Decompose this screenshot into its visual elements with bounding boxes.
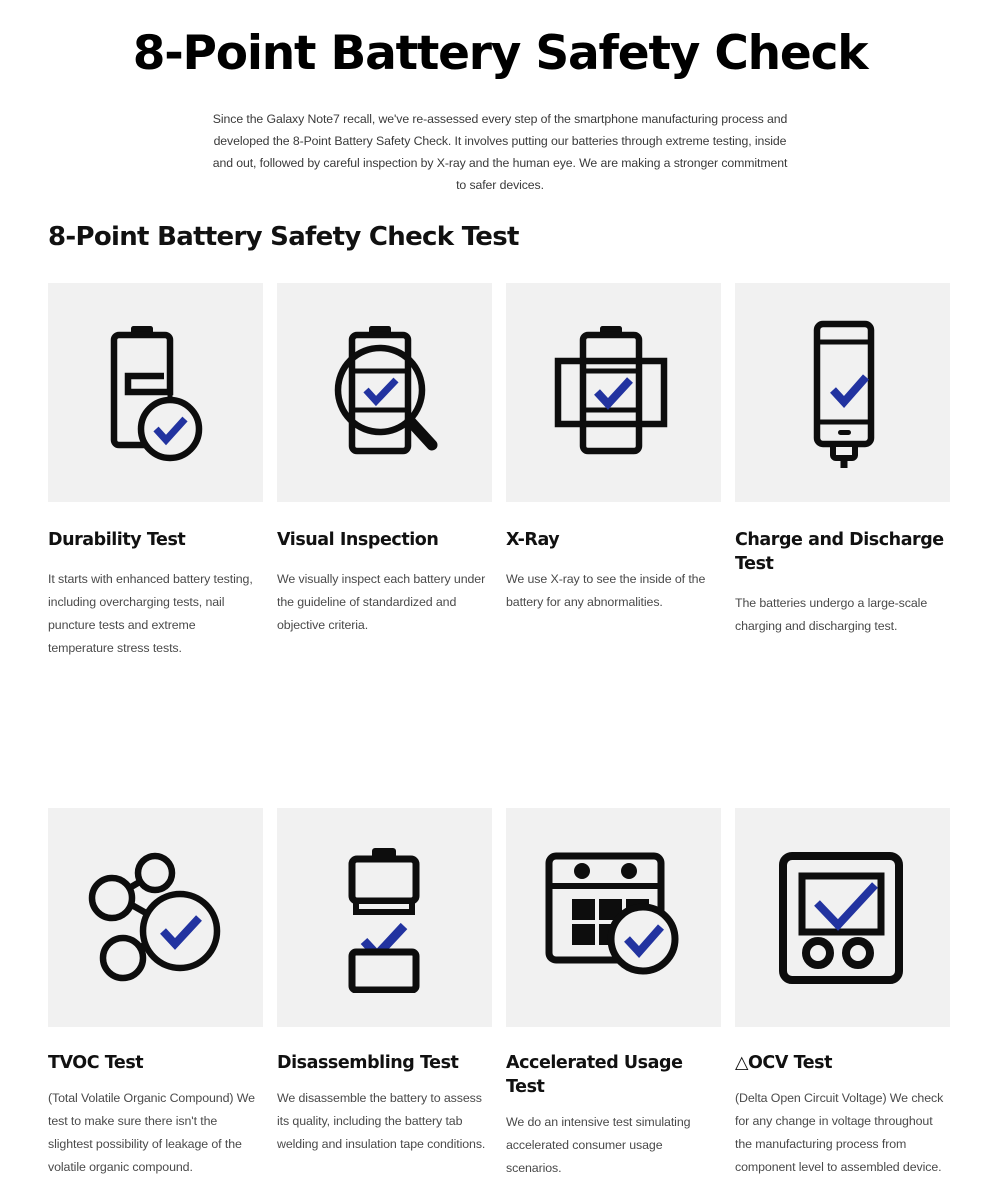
icon-tile [48,283,263,502]
card-title: Visual Inspection [277,528,492,552]
card-durability-test[interactable]: Durability Test It starts with enhanced … [48,283,263,660]
icon-tile [735,283,950,502]
voltmeter-check-icon [773,848,913,988]
card-description: It starts with enhanced battery testing,… [48,568,263,660]
card-description: (Total Volatile Organic Compound) We tes… [48,1087,263,1179]
card-disassembling-test[interactable]: Disassembling Test We disassemble the ba… [277,808,492,1180]
card-accelerated-usage-test[interactable]: Accelerated Usage Test We do an intensiv… [506,808,721,1180]
card-description: (Delta Open Circuit Voltage) We check fo… [735,1087,950,1179]
card-title: TVOC Test [48,1051,263,1075]
card-title: Durability Test [48,528,263,552]
card-description: We disassemble the battery to assess its… [277,1087,492,1156]
safety-check-grid: Durability Test It starts with enhanced … [48,283,952,1180]
card-title: Charge and Discharge Test [735,528,950,576]
card-title: △OCV Test [735,1051,950,1075]
icon-tile [277,283,492,502]
icon-tile [506,283,721,502]
page-subtitle: Since the Galaxy Note7 recall, we've re-… [210,108,790,196]
card-delta-ocv-test[interactable]: △OCV Test (Delta Open Circuit Voltage) W… [735,808,950,1180]
card-title: Disassembling Test [277,1051,492,1075]
card-description: We use X-ray to see the inside of the ba… [506,568,721,614]
card-tvoc-test[interactable]: TVOC Test (Total Volatile Organic Compou… [48,808,263,1180]
card-description: The batteries undergo a large-scale char… [735,592,950,638]
calendar-check-icon [539,848,689,988]
page-root: 8-Point Battery Safety Check Since the G… [0,0,1000,1051]
section-heading: 8-Point Battery Safety Check Test [48,222,519,252]
battery-xray-scan-check-icon [544,318,684,468]
card-description: We do an intensive test simulating accel… [506,1111,721,1180]
molecule-nodes-check-icon [81,848,231,988]
card-x-ray[interactable]: X-Ray We use X-ray to see the inside of … [506,283,721,660]
battery-crack-check-icon [86,318,226,468]
card-description: We visually inspect each battery under t… [277,568,492,637]
icon-tile [48,808,263,1027]
battery-split-check-icon [320,843,450,993]
icon-tile [506,808,721,1027]
icon-tile [277,808,492,1027]
phone-charging-cable-check-icon [773,318,913,468]
page-title: 8-Point Battery Safety Check [0,0,1000,82]
card-title: X-Ray [506,528,721,552]
card-charge-and-discharge-test[interactable]: Charge and Discharge Test The batteries … [735,283,950,660]
battery-magnifier-check-icon [315,318,455,468]
icon-tile [735,808,950,1027]
card-title: Accelerated Usage Test [506,1051,721,1099]
card-visual-inspection[interactable]: Visual Inspection We visually inspect ea… [277,283,492,660]
